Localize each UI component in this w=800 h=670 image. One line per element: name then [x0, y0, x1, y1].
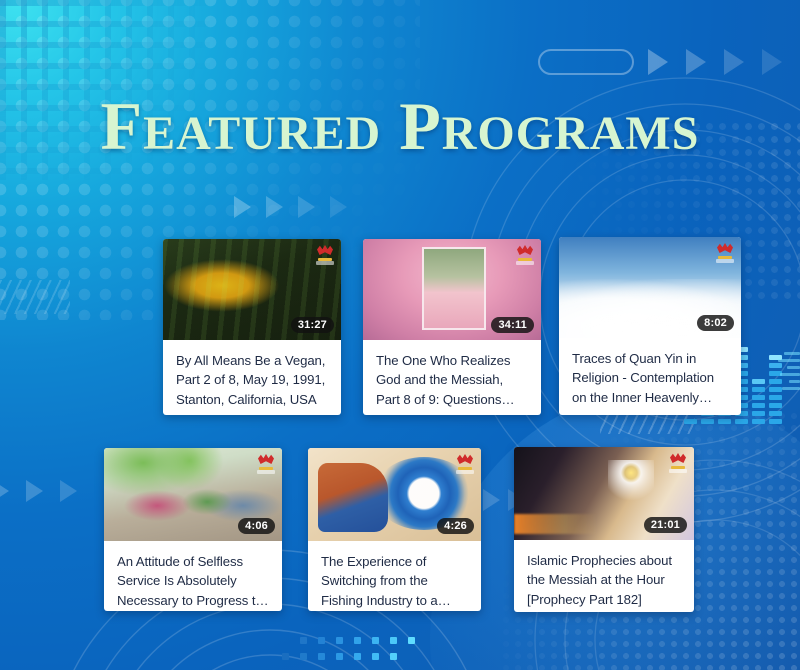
square-dots-row-2: [282, 653, 397, 660]
program-thumbnail[interactable]: 31:27: [163, 239, 341, 340]
channel-logo-icon: [715, 242, 735, 262]
pill-outline-icon: [538, 49, 634, 75]
square-dots-row-1: [300, 637, 415, 644]
program-thumbnail[interactable]: 4:06: [104, 448, 282, 541]
duration-badge: 34:11: [491, 317, 534, 333]
program-title[interactable]: Traces of Quan Yin in Religion - Contemp…: [559, 338, 741, 415]
program-title[interactable]: By All Means Be a Vegan, Part 2 of 8, Ma…: [163, 340, 341, 415]
duration-badge: 4:06: [238, 518, 275, 534]
play-triangle-icon: [0, 480, 9, 502]
featured-programs-banner: Featured Programs 31:27 By All Means Be …: [0, 0, 800, 670]
play-triangle-icon: [60, 480, 77, 502]
program-card[interactable]: 21:01 Islamic Prophecies about the Messi…: [514, 447, 694, 612]
play-triangle-icon: [648, 49, 668, 75]
program-thumbnail[interactable]: 4:26: [308, 448, 481, 541]
play-triangle-icon: [26, 480, 43, 502]
page-title: Featured Programs: [0, 92, 800, 160]
equalizer-column: [684, 419, 697, 424]
channel-logo-icon: [668, 452, 688, 472]
play-triangle-icon: [762, 49, 782, 75]
play-triangle-icon: [330, 196, 347, 218]
program-title[interactable]: Islamic Prophecies about the Messiah at …: [514, 540, 694, 612]
play-triangle-icon: [724, 49, 744, 75]
diagonal-hatch-left: [0, 280, 70, 314]
program-thumbnail[interactable]: 8:02: [559, 237, 741, 338]
duration-badge: 8:02: [697, 315, 734, 331]
program-card[interactable]: 4:06 An Attitude of Selfless Service Is …: [104, 448, 282, 611]
duration-badge: 21:01: [644, 517, 687, 533]
duration-badge: 31:27: [291, 317, 334, 333]
program-title[interactable]: An Attitude of Selfless Service Is Absol…: [104, 541, 282, 611]
program-title[interactable]: The One Who Realizes God and the Messiah…: [363, 340, 541, 415]
channel-logo-icon: [515, 244, 535, 264]
program-card[interactable]: 4:26 The Experience of Switching from th…: [308, 448, 481, 611]
program-thumbnail[interactable]: 34:11: [363, 239, 541, 340]
program-thumbnail[interactable]: 21:01: [514, 447, 694, 540]
equalizer-column: [752, 379, 765, 424]
channel-logo-icon: [256, 453, 276, 473]
program-title[interactable]: The Experience of Switching from the Fis…: [308, 541, 481, 611]
duration-badge: 4:26: [437, 518, 474, 534]
channel-logo-icon: [455, 453, 475, 473]
channel-logo-icon: [315, 244, 335, 264]
program-card[interactable]: 8:02 Traces of Quan Yin in Religion - Co…: [559, 237, 741, 415]
play-triangle-icon: [298, 196, 315, 218]
program-card[interactable]: 34:11 The One Who Realizes God and the M…: [363, 239, 541, 415]
tick-marks-right: [778, 352, 800, 390]
play-triangle-icon: [234, 196, 251, 218]
play-triangle-icon: [483, 489, 500, 511]
play-triangle-icon: [686, 49, 706, 75]
program-card[interactable]: 31:27 By All Means Be a Vegan, Part 2 of…: [163, 239, 341, 415]
play-triangle-icon: [266, 196, 283, 218]
